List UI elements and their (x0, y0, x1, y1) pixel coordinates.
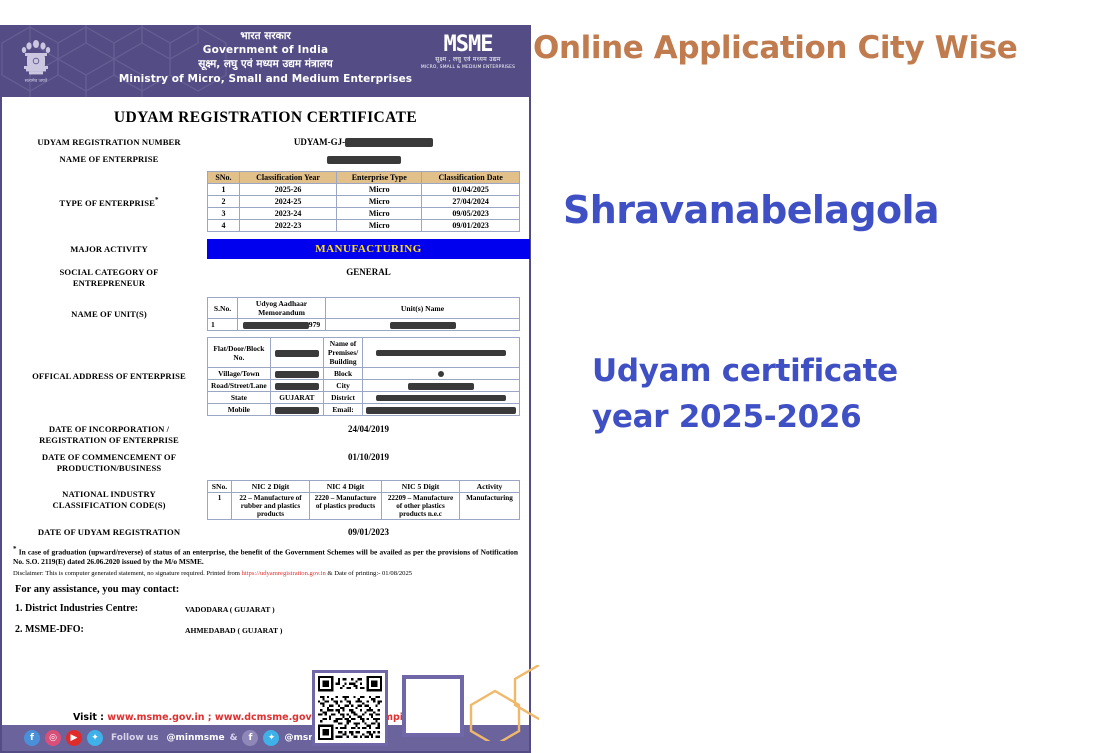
annotation-subtitle-line1: Udyam certificate (592, 348, 1072, 394)
cell-year: 2022-23 (239, 220, 336, 232)
msme-logo-en: MICRO, SMALL & MEDIUM ENTERPRISES (416, 64, 520, 71)
type-of-enterprise-label: TYPE OF ENTERPRISE* (11, 195, 207, 209)
contact-value: VADODARA ( GUJARAT ) (185, 603, 275, 614)
cell-nic5: 22209 – Manufacture of other plastics pr… (382, 493, 460, 520)
msme-logo-hi: सूक्ष्म , लघु एवं मध्यम उद्यम (416, 56, 520, 64)
qr-code[interactable] (312, 670, 388, 746)
table-row: 1 22 – Manufacture of rubber and plastic… (208, 493, 520, 520)
col-sno: S.No. (208, 298, 238, 319)
cell-sno: 4 (208, 220, 240, 232)
certificate-header: सत्यमेव जयते भारत सरकार Government of In… (0, 25, 531, 97)
email-value (363, 404, 520, 416)
table-row: 1 979 (208, 319, 520, 331)
cell-type: Micro (337, 196, 422, 208)
cell-uam: 979 (238, 319, 326, 331)
flat-label: Flat/Door/Block No. (208, 338, 271, 368)
state-value: GUJARAT (270, 392, 323, 404)
blank-placeholder-box (402, 675, 464, 737)
annotation-title: Online Application City Wise (533, 30, 1113, 66)
footnote-asterisk: * (13, 545, 17, 553)
redaction-mark (366, 407, 516, 414)
qr-code-image (318, 676, 382, 740)
redaction-mark (390, 322, 456, 329)
field-official-address: OFFICAL ADDRESS OF ENTERPRISE Flat/Door/… (11, 337, 520, 416)
classification-table: SNo. Classification Year Enterprise Type… (207, 171, 520, 232)
cell-nic4: 2220 – Manufacture of plastics products (310, 493, 382, 520)
cell-activity: Manufacturing (460, 493, 520, 520)
col-sno: SNo. (208, 172, 240, 184)
cell-date: 27/04/2024 (422, 196, 520, 208)
nic-table: SNo. NIC 2 Digit NIC 4 Digit NIC 5 Digit… (207, 480, 520, 520)
udyam-certificate: सत्यमेव जयते भारत सरकार Government of In… (0, 25, 531, 753)
udyam-reg-date-value: 09/01/2023 (207, 527, 530, 537)
col-activity: Activity (460, 481, 520, 493)
facebook-icon-secondary[interactable]: f (242, 730, 258, 746)
twitter-icon[interactable]: ✦ (87, 730, 103, 746)
redaction-mark (275, 407, 319, 414)
unit-table-wrap: S.No. Udyog Aadhaar Memorandum Unit(s) N… (207, 297, 520, 331)
nic-label: NATIONAL INDUSTRYCLASSIFICATION CODE(S) (11, 489, 207, 511)
road-value (270, 380, 323, 392)
certificate-title: UDYAM REGISTRATION CERTIFICATE (11, 109, 520, 127)
cell-unit-name (326, 319, 520, 331)
redaction-mark (275, 383, 319, 390)
cell-date: 09/05/2023 (422, 208, 520, 220)
state-label: State (208, 392, 271, 404)
annotation-subtitle-line2: year 2025-2026 (592, 394, 1072, 440)
incorporation-value: 24/04/2019 (207, 424, 530, 434)
social-category-label: SOCIAL CATEGORY OFENTREPRENEUR (11, 267, 207, 289)
cell-sno: 2 (208, 196, 240, 208)
mobile-value (270, 404, 323, 416)
table-header-row: SNo. Classification Year Enterprise Type… (208, 172, 520, 184)
udyam-number-value: UDYAM-GJ- (207, 137, 520, 147)
disclaimer: Disclaimer: This is computer generated s… (13, 569, 518, 578)
cell-year: 2025-26 (239, 184, 336, 196)
redaction-mark (438, 371, 444, 377)
block-label: Block (324, 368, 363, 380)
table-row: Village/Town Block (208, 368, 520, 380)
village-value (270, 368, 323, 380)
city-label: City (324, 380, 363, 392)
contact-dic: 1. District Industries Centre: VADODARA … (15, 603, 520, 614)
mobile-label: Mobile (208, 404, 271, 416)
table-row: 1 2025-26 Micro 01/04/2025 (208, 184, 520, 196)
table-row: 2 2024-25 Micro 27/04/2024 (208, 196, 520, 208)
uam-suffix: 979 (309, 320, 320, 329)
visit-prefix: Visit : (73, 712, 107, 723)
contact-value: AHMEDABAD ( GUJARAT ) (185, 624, 282, 635)
cell-type: Micro (337, 184, 422, 196)
youtube-icon[interactable]: ▶ (66, 730, 82, 746)
disclaimer-pre: Disclaimer: This is computer generated s… (13, 570, 242, 577)
enterprise-name-label: NAME OF ENTERPRISE (11, 154, 207, 165)
udyam-portal-link[interactable]: https://udyamregistration.gov.in (242, 570, 326, 577)
incorporation-label: DATE OF INCORPORATION /REGISTRATION OF E… (11, 424, 207, 446)
cell-date: 09/01/2023 (422, 220, 520, 232)
col-nic2: NIC 2 Digit (232, 481, 310, 493)
field-nic-codes: NATIONAL INDUSTRYCLASSIFICATION CODE(S) … (11, 480, 520, 520)
redaction-mark (408, 383, 474, 390)
graduation-footnote: * In case of graduation (upward/reverse)… (13, 544, 518, 567)
major-activity-banner: MANUFACTURING (207, 239, 530, 259)
redaction-mark (376, 395, 506, 401)
col-uam: Udyog Aadhaar Memorandum (238, 298, 326, 319)
field-name-of-units: NAME OF UNIT(S) S.No. Udyog Aadhaar Memo… (11, 297, 520, 331)
follow-us-text: Follow us (111, 733, 159, 743)
cell-sno: 1 (208, 184, 240, 196)
table-row: Mobile Email: (208, 404, 520, 416)
table-row: Road/Street/Lane City (208, 380, 520, 392)
nic-table-wrap: SNo. NIC 2 Digit NIC 4 Digit NIC 5 Digit… (207, 480, 520, 520)
unit-table: S.No. Udyog Aadhaar Memorandum Unit(s) N… (207, 297, 520, 331)
field-type-of-enterprise: TYPE OF ENTERPRISE* SNo. Classification … (11, 171, 520, 232)
contact-label: 2. MSME-DFO: (15, 624, 185, 635)
redaction-mark (243, 322, 309, 329)
field-commencement-date: DATE OF COMMENCEMENT OFPRODUCTION/BUSINE… (11, 452, 520, 474)
col-classification-date: Classification Date (422, 172, 520, 184)
redaction-mark (327, 156, 401, 164)
premises-value (363, 338, 520, 368)
road-label: Road/Street/Lane (208, 380, 271, 392)
redaction-mark (376, 350, 506, 356)
col-nic5: NIC 5 Digit (382, 481, 460, 493)
city-value (363, 380, 520, 392)
msme-logo-mark: MSME (416, 34, 520, 56)
redaction-mark (275, 350, 319, 357)
cell-sno: 3 (208, 208, 240, 220)
screenshot-root: सत्यमेव जयते भारत सरकार Government of In… (0, 0, 1116, 753)
field-major-activity: MAJOR ACTIVITY MANUFACTURING (11, 239, 520, 259)
cell-type: Micro (337, 220, 422, 232)
classification-table-wrap: SNo. Classification Year Enterprise Type… (207, 171, 520, 232)
commencement-value: 01/10/2019 (207, 452, 530, 462)
footnote-asterisk: * (155, 196, 159, 204)
col-classification-year: Classification Year (239, 172, 336, 184)
village-label: Village/Town (208, 368, 271, 380)
major-activity-label: MAJOR ACTIVITY (11, 244, 207, 255)
cell-sno: 1 (208, 493, 232, 520)
redaction-mark (345, 138, 433, 147)
footnote-text: In case of graduation (upward/reverse) o… (13, 547, 518, 566)
col-sno: SNo. (208, 481, 232, 493)
email-label: Email: (324, 404, 363, 416)
ampersand: & (230, 733, 238, 743)
premises-label: Name of Premises/ Building (324, 338, 363, 368)
table-row: State GUJARAT District (208, 392, 520, 404)
field-udyam-reg-date: DATE OF UDYAM REGISTRATION 09/01/2023 (11, 527, 520, 538)
assistance-heading: For any assistance, you may contact: (15, 584, 518, 595)
address-table-wrap: Flat/Door/Block No. Name of Premises/ Bu… (207, 337, 520, 416)
address-table: Flat/Door/Block No. Name of Premises/ Bu… (207, 337, 520, 416)
handle-minmsme[interactable]: @minmsme (167, 733, 225, 743)
redaction-mark (275, 371, 319, 378)
field-enterprise-name: NAME OF ENTERPRISE (11, 154, 520, 165)
udyam-number-label: UDYAM REGISTRATION NUMBER (11, 137, 207, 148)
field-udyam-number: UDYAM REGISTRATION NUMBER UDYAM-GJ- (11, 137, 520, 148)
cell-sno: 1 (208, 319, 238, 331)
contact-label: 1. District Industries Centre: (15, 603, 185, 614)
cell-year: 2023-24 (239, 208, 336, 220)
cell-year: 2024-25 (239, 196, 336, 208)
district-label: District (324, 392, 363, 404)
udyam-number-prefix: UDYAM-GJ- (294, 137, 345, 147)
enterprise-name-value (207, 154, 520, 164)
annotation-city-name: Shravanabelagola (563, 188, 1103, 232)
table-row: 4 2022-23 Micro 09/01/2023 (208, 220, 520, 232)
table-header-row: S.No. Udyog Aadhaar Memorandum Unit(s) N… (208, 298, 520, 319)
commencement-label: DATE OF COMMENCEMENT OFPRODUCTION/BUSINE… (11, 452, 207, 474)
official-address-label: OFFICAL ADDRESS OF ENTERPRISE (11, 371, 207, 382)
major-activity-value-wrap: MANUFACTURING (207, 239, 530, 259)
annotation-subtitle: Udyam certificate year 2025-2026 (592, 348, 1072, 440)
table-row: 3 2023-24 Micro 09/05/2023 (208, 208, 520, 220)
col-unit-name: Unit(s) Name (326, 298, 520, 319)
block-value (363, 368, 520, 380)
social-category-value: GENERAL (207, 267, 530, 277)
table-header-row: SNo. NIC 2 Digit NIC 4 Digit NIC 5 Digit… (208, 481, 520, 493)
field-incorporation-date: DATE OF INCORPORATION /REGISTRATION OF E… (11, 424, 520, 446)
col-nic4: NIC 4 Digit (310, 481, 382, 493)
certificate-body: UDYAM REGISTRATION CERTIFICATE UDYAM REG… (0, 97, 531, 753)
field-social-category: SOCIAL CATEGORY OFENTREPRENEUR GENERAL (11, 267, 520, 289)
msme-logo: MSME सूक्ष्म , लघु एवं मध्यम उद्यम MICRO… (416, 34, 520, 71)
cell-nic2: 22 – Manufacture of rubber and plastics … (232, 493, 310, 520)
district-value (363, 392, 520, 404)
ministry-title-en: Ministry of Micro, Small and Medium Ente… (0, 72, 531, 87)
facebook-icon[interactable]: f (24, 730, 40, 746)
name-of-units-label: NAME OF UNIT(S) (11, 309, 207, 320)
udyam-reg-date-label: DATE OF UDYAM REGISTRATION (11, 527, 207, 538)
cell-type: Micro (337, 208, 422, 220)
twitter-icon-secondary[interactable]: ✦ (263, 730, 279, 746)
disclaimer-post: & Date of printing:- 01/08/2025 (326, 570, 412, 577)
col-enterprise-type: Enterprise Type (337, 172, 422, 184)
instagram-icon[interactable]: ◎ (45, 730, 61, 746)
table-row: Flat/Door/Block No. Name of Premises/ Bu… (208, 338, 520, 368)
flat-value (270, 338, 323, 368)
contact-dfo: 2. MSME-DFO: AHMEDABAD ( GUJARAT ) (15, 624, 520, 635)
cell-date: 01/04/2025 (422, 184, 520, 196)
